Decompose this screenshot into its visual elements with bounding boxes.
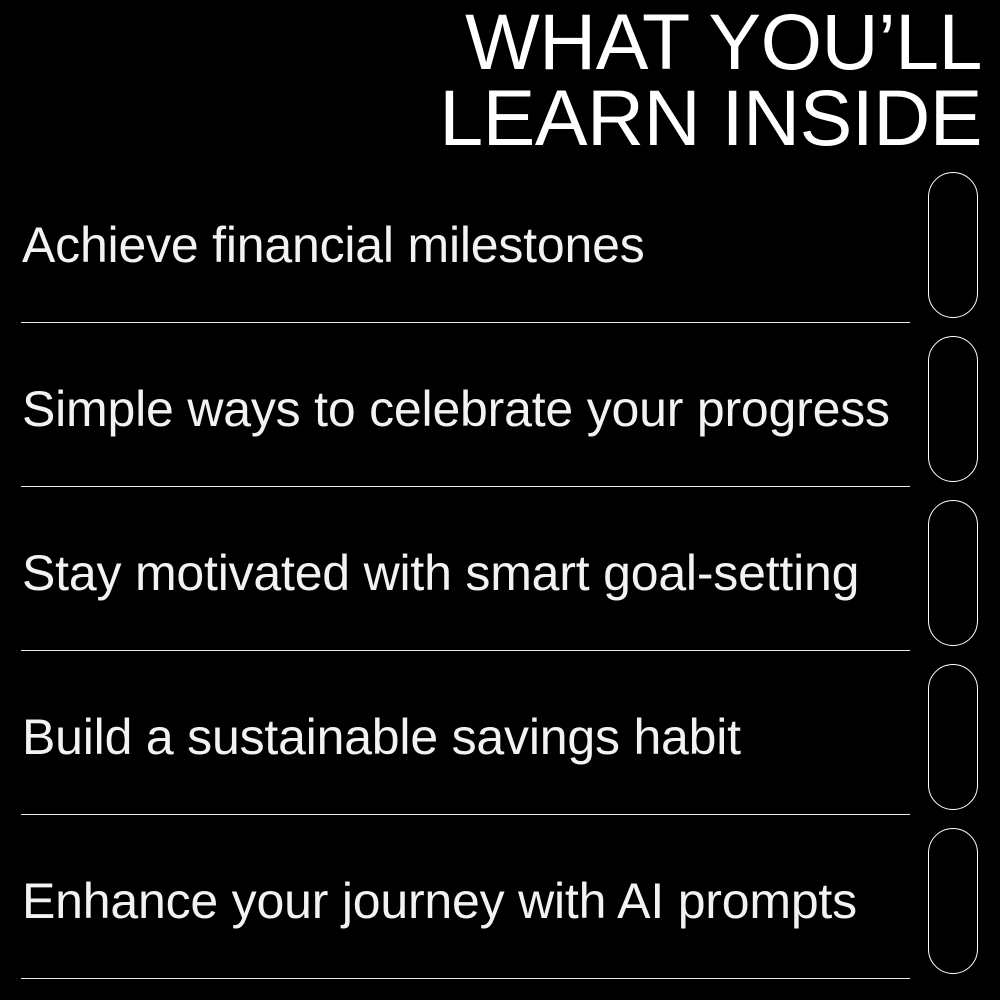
list-item[interactable]: Build a sustainable savings habit (0, 664, 1000, 828)
page-title-line-2: LEARN INSIDE (300, 80, 982, 156)
capsule-marker-icon (928, 172, 978, 318)
capsule-marker-rail (928, 172, 982, 1000)
capsule-marker-icon (928, 500, 978, 646)
list-item-label: Build a sustainable savings habit (22, 664, 741, 809)
list-item[interactable]: Achieve financial milestones (0, 172, 1000, 336)
list-item[interactable]: Simple ways to celebrate your progress (0, 336, 1000, 500)
list-item-divider (21, 978, 910, 979)
list-item-label: Simple ways to celebrate your progress (22, 336, 890, 481)
list-item-divider (21, 322, 910, 323)
list-item-label: Enhance your journey with AI prompts (22, 828, 857, 973)
list-item-label: Achieve financial milestones (22, 172, 645, 317)
list-item-divider (21, 814, 910, 815)
list-item-divider (21, 486, 910, 487)
list-item[interactable]: Enhance your journey with AI prompts (0, 828, 1000, 992)
list-item-divider (21, 650, 910, 651)
learn-list: Achieve financial milestones Simple ways… (0, 172, 1000, 992)
list-item-label: Stay motivated with smart goal-setting (22, 500, 859, 645)
list-item[interactable]: Stay motivated with smart goal-setting (0, 500, 1000, 664)
capsule-marker-icon (928, 828, 978, 974)
page-title-line-1: WHAT YOU’LL (300, 4, 982, 80)
capsule-marker-icon (928, 664, 978, 810)
page-title: WHAT YOU’LL LEARN INSIDE (300, 4, 982, 156)
slide-canvas: WHAT YOU’LL LEARN INSIDE Achieve financi… (0, 0, 1000, 1000)
capsule-marker-icon (928, 336, 978, 482)
